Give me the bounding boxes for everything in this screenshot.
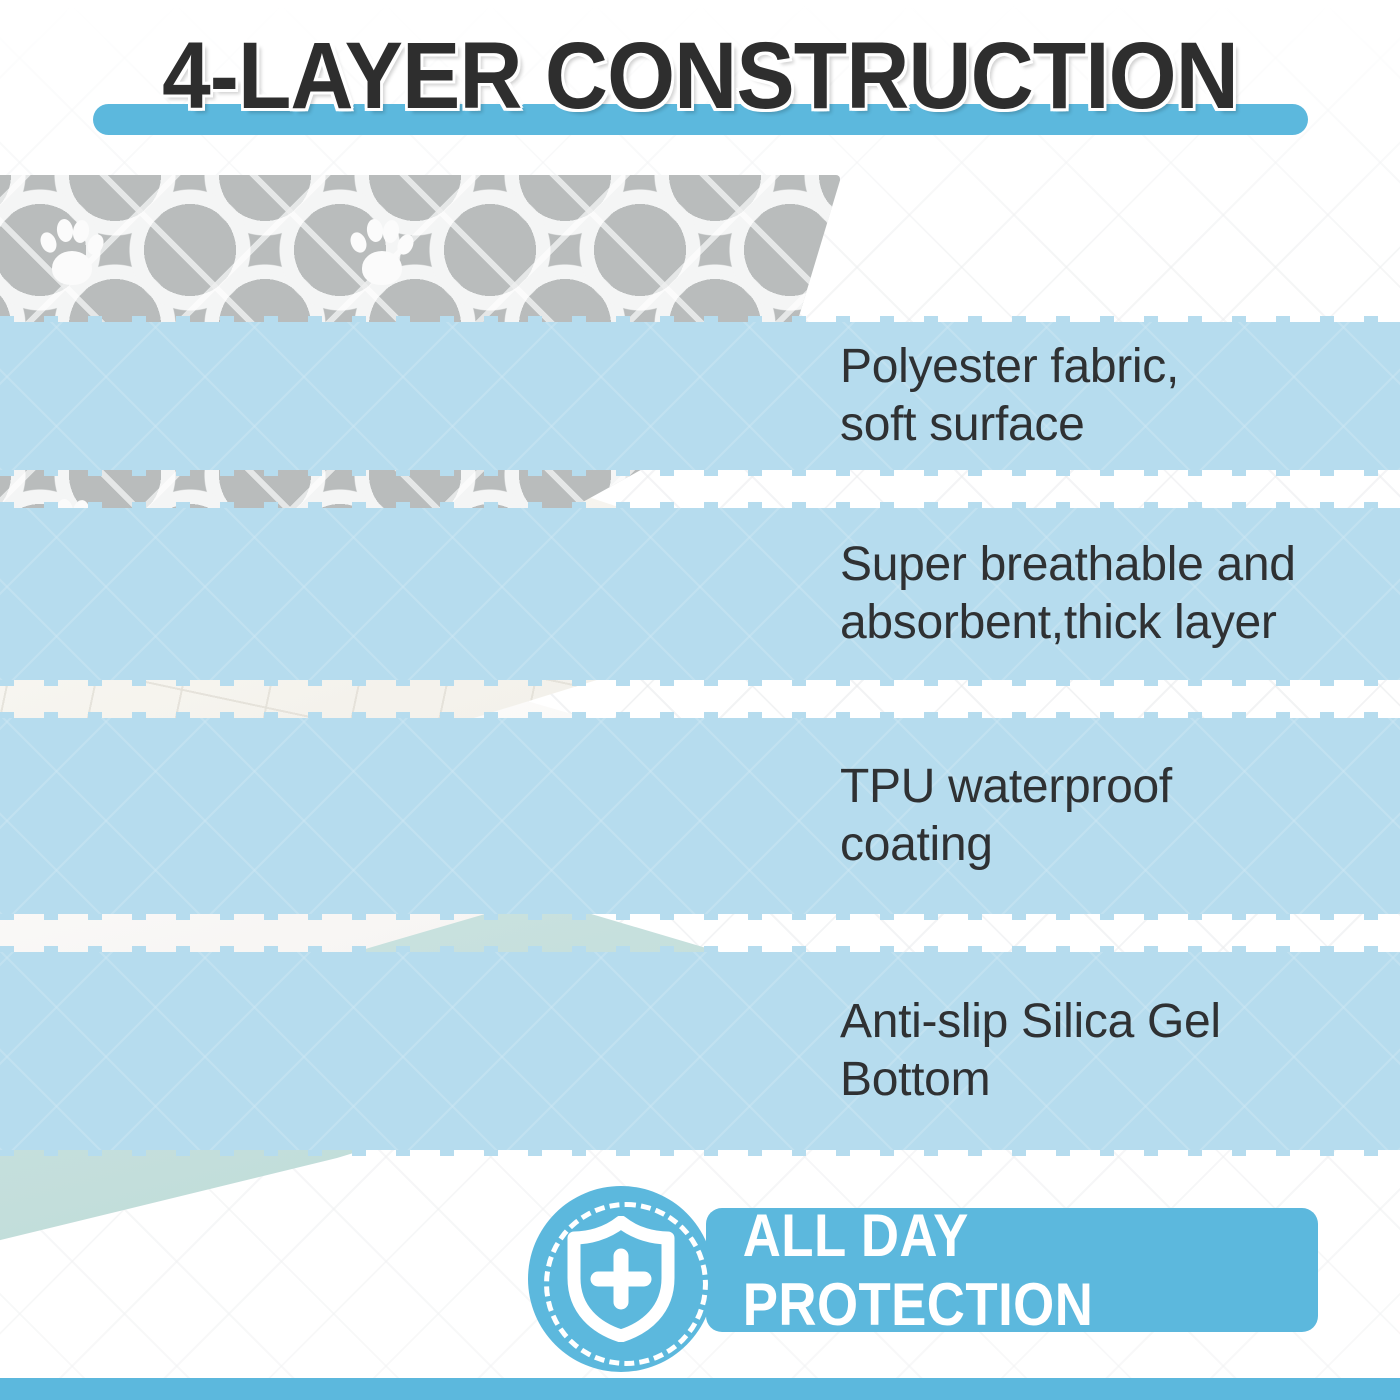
- badge-bar: ALL DAY PROTECTION: [706, 1208, 1318, 1332]
- infographic-canvas: Polyester fabric, soft surface Super bre…: [0, 0, 1400, 1400]
- paw-print-icon: [40, 215, 104, 285]
- layer-1-label: Polyester fabric, soft surface: [840, 338, 1380, 454]
- shield-plus-icon: [562, 1216, 680, 1342]
- layer-3-label-band: TPU waterproof coating: [0, 718, 1400, 914]
- layer-1-label-band: Polyester fabric, soft surface: [0, 322, 1400, 470]
- all-day-protection-badge: ALL DAY PROTECTION: [528, 1186, 1318, 1372]
- badge-label: ALL DAY PROTECTION: [743, 1208, 1282, 1332]
- paw-print-icon: [350, 215, 414, 285]
- page-title-text: 4-LAYER CONSTRUCTION: [56, 22, 1344, 130]
- layer-2-label: Super breathable and absorbent,thick lay…: [840, 536, 1380, 652]
- layer-4-label-band: Anti-slip Silica Gel Bottom: [0, 952, 1400, 1150]
- layer-4-label: Anti-slip Silica Gel Bottom: [840, 993, 1380, 1109]
- layer-3-label: TPU waterproof coating: [840, 758, 1380, 874]
- page-title: 4-LAYER CONSTRUCTION: [0, 22, 1400, 142]
- bottom-accent-strip: [0, 1378, 1400, 1400]
- layer-2-label-band: Super breathable and absorbent,thick lay…: [0, 508, 1400, 680]
